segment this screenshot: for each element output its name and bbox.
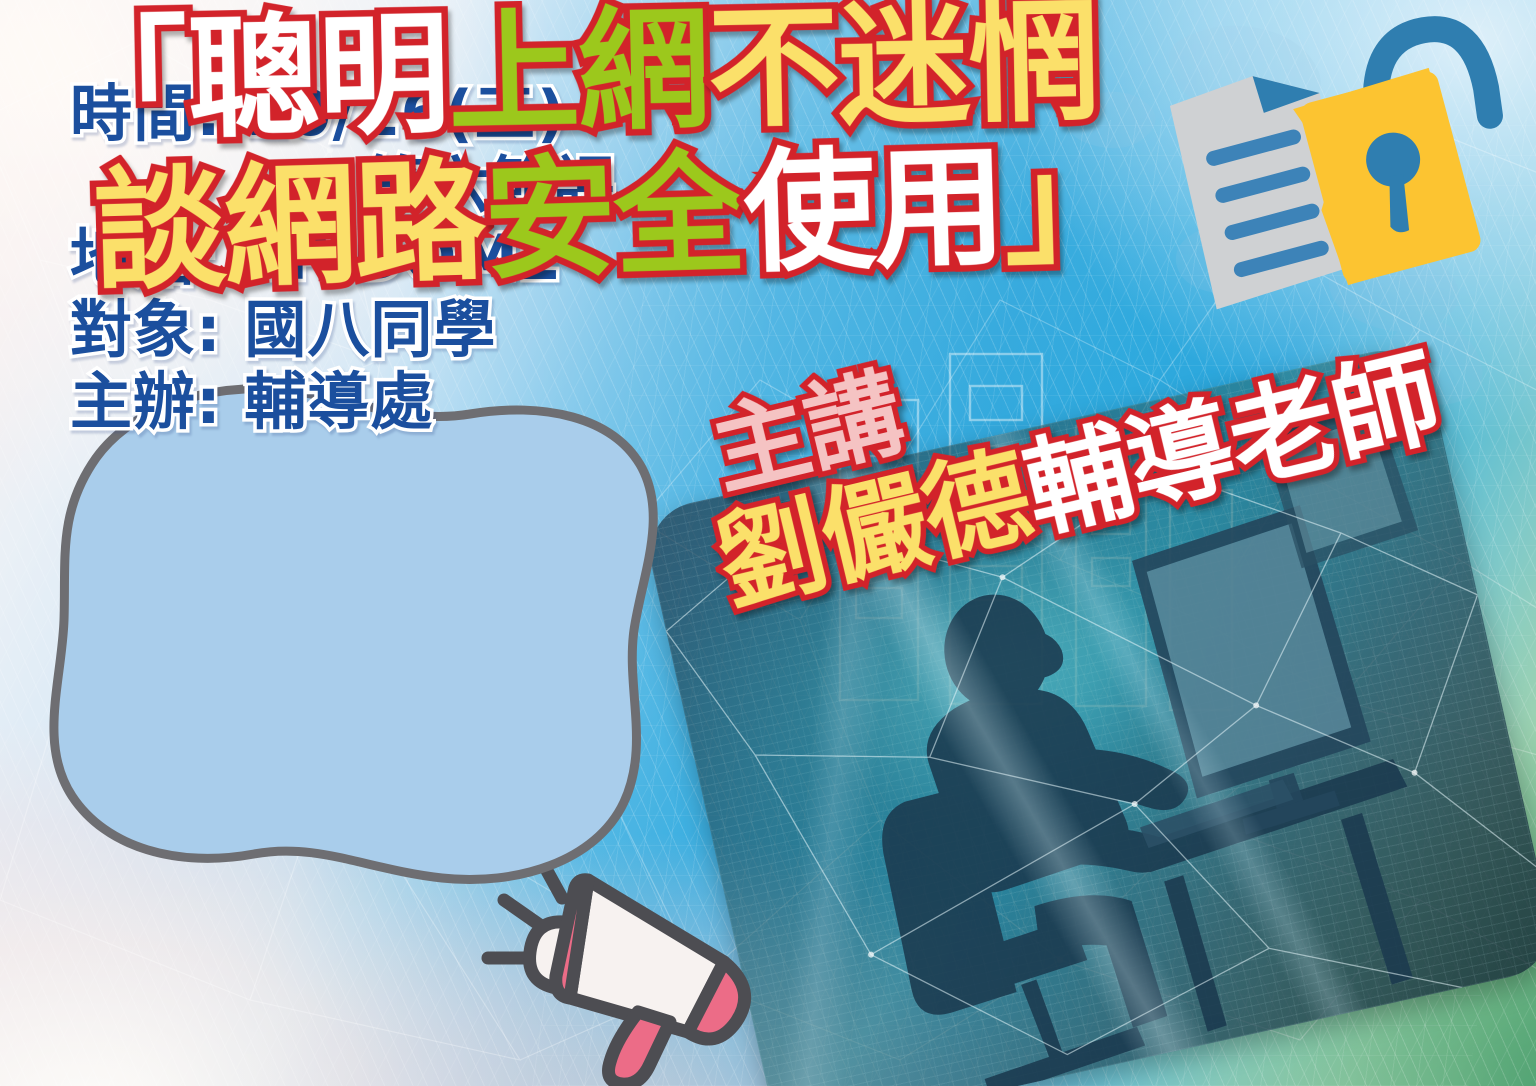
title-segment-green-2: 安全 [482, 148, 746, 287]
title-segment-white-2: 使用 [742, 141, 1006, 280]
poster-title: 「聰明上網不迷惘 談網路安全使用」 [48, 6, 1138, 284]
event-info-blob [18, 362, 698, 962]
title-line-1: 「聰明上網不迷惘 [57, 0, 1139, 148]
info-line-organizer: 主辦: 輔導處 [70, 366, 630, 438]
title-segment-white-1: 聰明 [187, 9, 449, 146]
title-line-2: 談網路安全使用」 [92, 137, 1139, 298]
title-close-bracket: 」 [1002, 138, 1136, 274]
title-segment-green-1: 上網 [447, 4, 709, 141]
blob-shape-icon [18, 362, 698, 962]
title-open-bracket: 「 [57, 14, 190, 148]
poster-canvas: 「聰明上網不迷惘 談網路安全使用」 時間: 10/16(三) 第六節課 地點: … [0, 0, 1536, 1086]
title-segment-yellow-2: 談網路 [92, 156, 486, 299]
title-segment-yellow-1: 不迷惘 [707, 0, 1099, 136]
